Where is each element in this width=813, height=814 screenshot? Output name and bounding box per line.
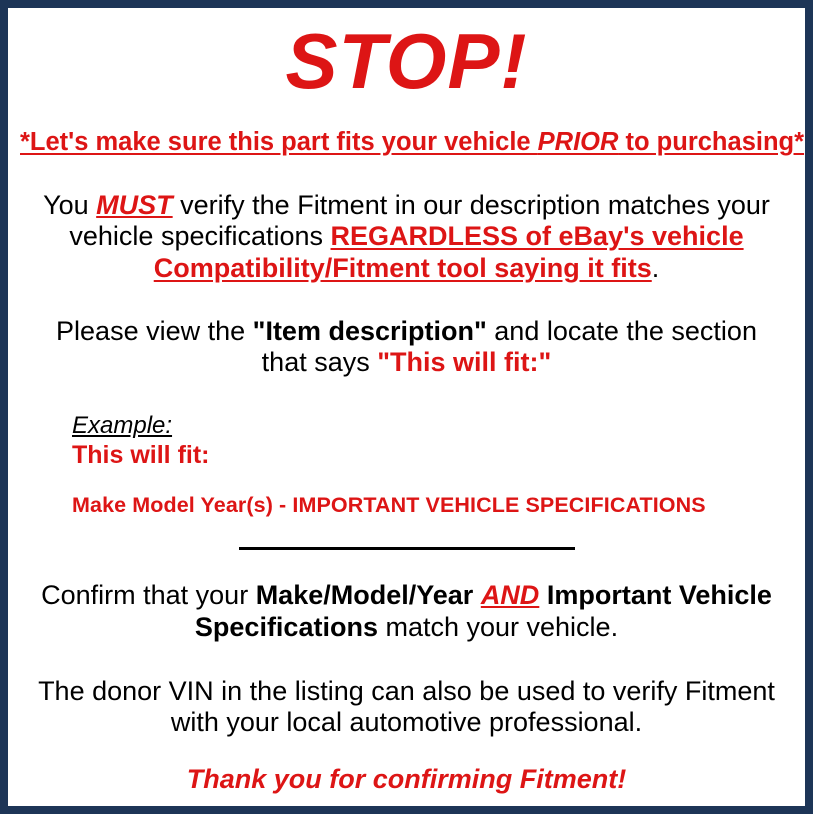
example-fit-heading: This will fit: — [72, 440, 793, 471]
this-will-fit-quote: "This will fit:" — [377, 347, 551, 377]
donor-vin-paragraph: The donor VIN in the listing can also be… — [20, 676, 793, 739]
stop-headline: STOP! — [20, 22, 793, 100]
thank-you-line: Thank you for confirming Fitment! — [20, 764, 793, 795]
tagline-emphasis-prior: PRIOR — [538, 128, 619, 156]
horizontal-divider — [239, 547, 575, 550]
item-description-label: "Item description" — [253, 316, 487, 346]
desc-paragraph-part1: Please view the — [56, 316, 253, 346]
divider-row — [20, 540, 793, 558]
example-label: Example: — [72, 413, 793, 439]
item-description-paragraph: Please view the "Item description" and l… — [20, 316, 793, 379]
confirm-part2: match your vehicle. — [378, 612, 618, 642]
must-verify-paragraph: You MUST verify the Fitment in our descr… — [20, 190, 793, 284]
confirm-paragraph: Confirm that your Make/Model/Year AND Im… — [20, 580, 793, 643]
must-paragraph-part3: . — [652, 253, 660, 283]
fitment-tagline: *Let's make sure this part fits your veh… — [20, 128, 793, 157]
must-paragraph-part1: You — [43, 190, 96, 220]
make-model-year-emphasis: Make/Model/Year — [256, 580, 474, 610]
confirm-part1: Confirm that your — [41, 580, 256, 610]
and-emphasis: AND — [481, 580, 540, 610]
example-block: Example: This will fit: Make Model Year(… — [20, 413, 793, 519]
must-emphasis: MUST — [96, 190, 173, 220]
tagline-suffix: to purchasing* — [618, 128, 804, 156]
fitment-notice-card: STOP! *Let's make sure this part fits yo… — [0, 0, 813, 814]
tagline-prefix: *Let's make sure this part fits your veh… — [20, 128, 538, 156]
example-spec-line: Make Model Year(s) - IMPORTANT VEHICLE S… — [72, 493, 793, 518]
